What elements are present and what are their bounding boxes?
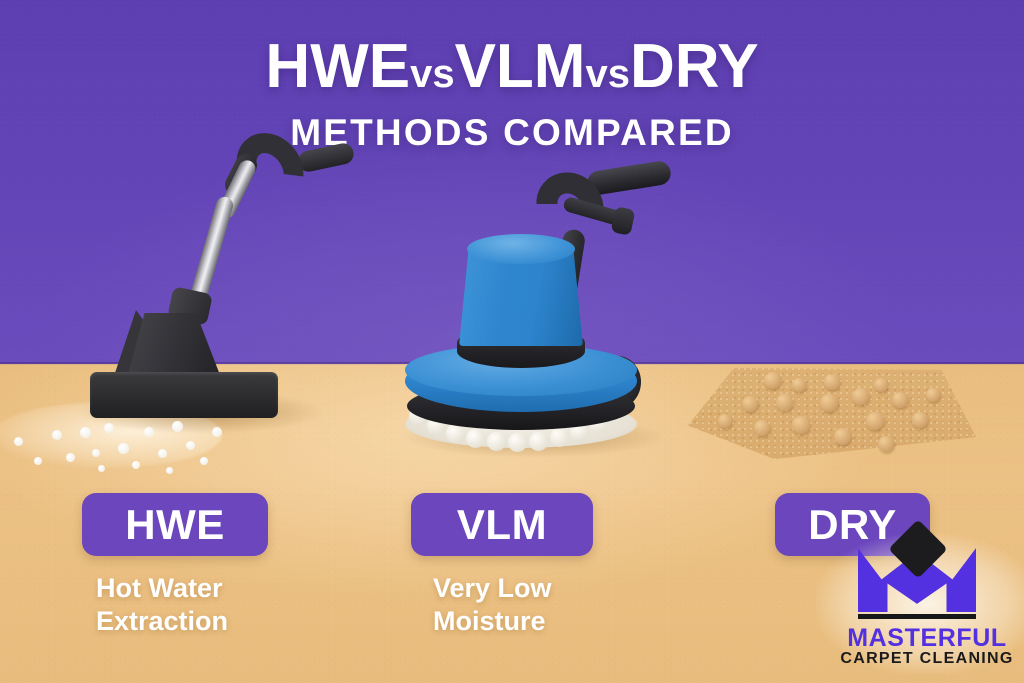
compound-bead (718, 414, 732, 428)
illustration-dry-compound (680, 358, 986, 476)
water-droplet (166, 467, 173, 474)
compound-bead (834, 428, 851, 445)
compound-bead (824, 374, 840, 390)
compound-bead (742, 396, 758, 412)
title-separator-2: vs (585, 52, 630, 96)
water-droplet (132, 461, 140, 469)
water-droplet (52, 430, 62, 440)
title-term-hwe: HWE (265, 32, 410, 101)
compound-bead (874, 378, 888, 392)
caption-vlm: Very Low Moisture (433, 572, 552, 638)
compound-bead (852, 388, 869, 405)
logo-underline (858, 614, 976, 619)
buffer-lever-knob (611, 206, 636, 236)
logo-name: MASTERFUL (830, 624, 1024, 653)
compound-bead (878, 436, 894, 452)
compound-bead (754, 420, 770, 436)
water-droplet (172, 421, 183, 432)
water-droplet (212, 427, 222, 437)
water-droplet (66, 453, 75, 462)
water-droplet (104, 423, 114, 433)
brand-logo[interactable]: MASTERFUL CARPET CLEANING (830, 540, 1024, 672)
water-droplet (186, 441, 195, 450)
bonnet-nub (550, 428, 569, 447)
compound-bead (764, 372, 781, 389)
title-separator-1: vs (410, 52, 455, 96)
caption-hwe: Hot Water Extraction (96, 572, 228, 638)
wand-pole-lower (188, 195, 235, 305)
bonnet-nub (529, 432, 548, 451)
water-droplet (144, 427, 154, 437)
water-droplet (200, 457, 208, 465)
water-droplet (98, 465, 105, 472)
compound-bead (866, 412, 884, 430)
water-droplet (118, 443, 129, 454)
buffer-motor-top (467, 234, 575, 264)
title-term-dry: DRY (630, 32, 759, 101)
page-title: HWEvsVLMvsDRY (0, 34, 1024, 107)
wand-head-base (90, 372, 278, 418)
compound-bead (892, 392, 908, 408)
water-droplet (92, 449, 100, 457)
badge-hwe[interactable]: HWE (82, 493, 268, 556)
water-droplet (34, 457, 42, 465)
compound-bead (776, 394, 793, 411)
compound-bead (926, 388, 940, 402)
water-droplet (14, 437, 23, 446)
infographic-canvas: HWEvsVLMvsDRY METHODS COMPARED (0, 0, 1024, 683)
bonnet-nub (466, 429, 485, 448)
compound-bead (912, 412, 928, 428)
illustration-vlm-buffer (395, 168, 685, 468)
page-subtitle: METHODS COMPARED (0, 112, 1024, 154)
bonnet-nub (508, 433, 527, 452)
logo-tagline: CARPET CLEANING (830, 650, 1024, 668)
water-droplet (80, 427, 91, 438)
title-term-vlm: VLM (455, 32, 586, 101)
compound-bead (792, 416, 810, 434)
badge-vlm[interactable]: VLM (411, 493, 593, 556)
bonnet-nub (487, 432, 506, 451)
water-droplet (158, 449, 167, 458)
compound-bead (792, 378, 806, 392)
illustration-hwe-wand (70, 165, 350, 475)
bonnet-nub (446, 424, 465, 443)
compound-bead (820, 394, 838, 412)
